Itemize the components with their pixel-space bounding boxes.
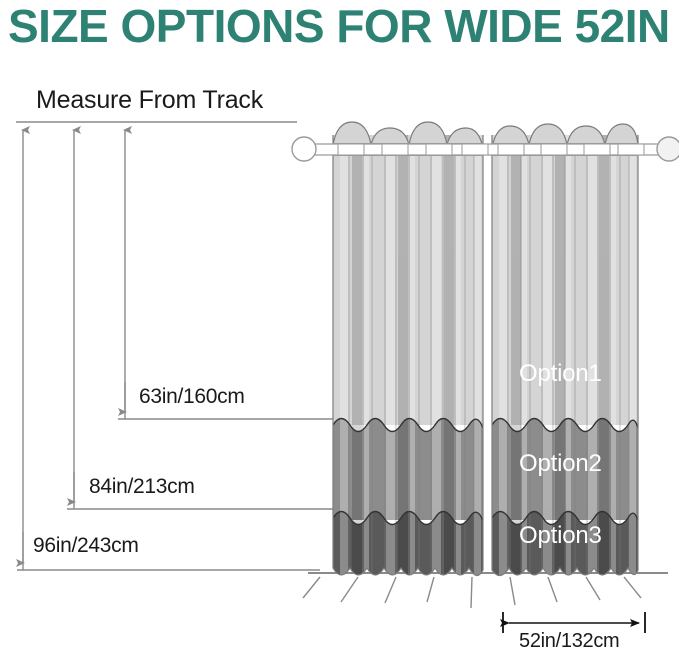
option-label-3: Option3	[519, 522, 602, 550]
dimension-label-63in: 63in/160cm	[139, 385, 245, 409]
floor-hatching-icon	[303, 577, 641, 608]
option-label-2: Option2	[519, 450, 602, 478]
option-label-1: Option1	[519, 360, 602, 388]
rod-finial-left-icon	[292, 137, 316, 161]
curtain-panel-left	[333, 135, 483, 595]
dimension-label-84in: 84in/213cm	[89, 475, 195, 499]
dimension-label-96in: 96in/243cm	[33, 534, 139, 558]
dimension-label-52in: 52in/132cm	[519, 630, 619, 653]
floor-group	[303, 573, 668, 608]
diagram-artwork	[0, 0, 679, 660]
rod-finial-right-icon	[657, 137, 679, 161]
size-options-diagram: SIZE OPTIONS FOR WIDE 52IN Measure From …	[0, 0, 679, 660]
vertical-dimension-lines	[23, 130, 125, 570]
